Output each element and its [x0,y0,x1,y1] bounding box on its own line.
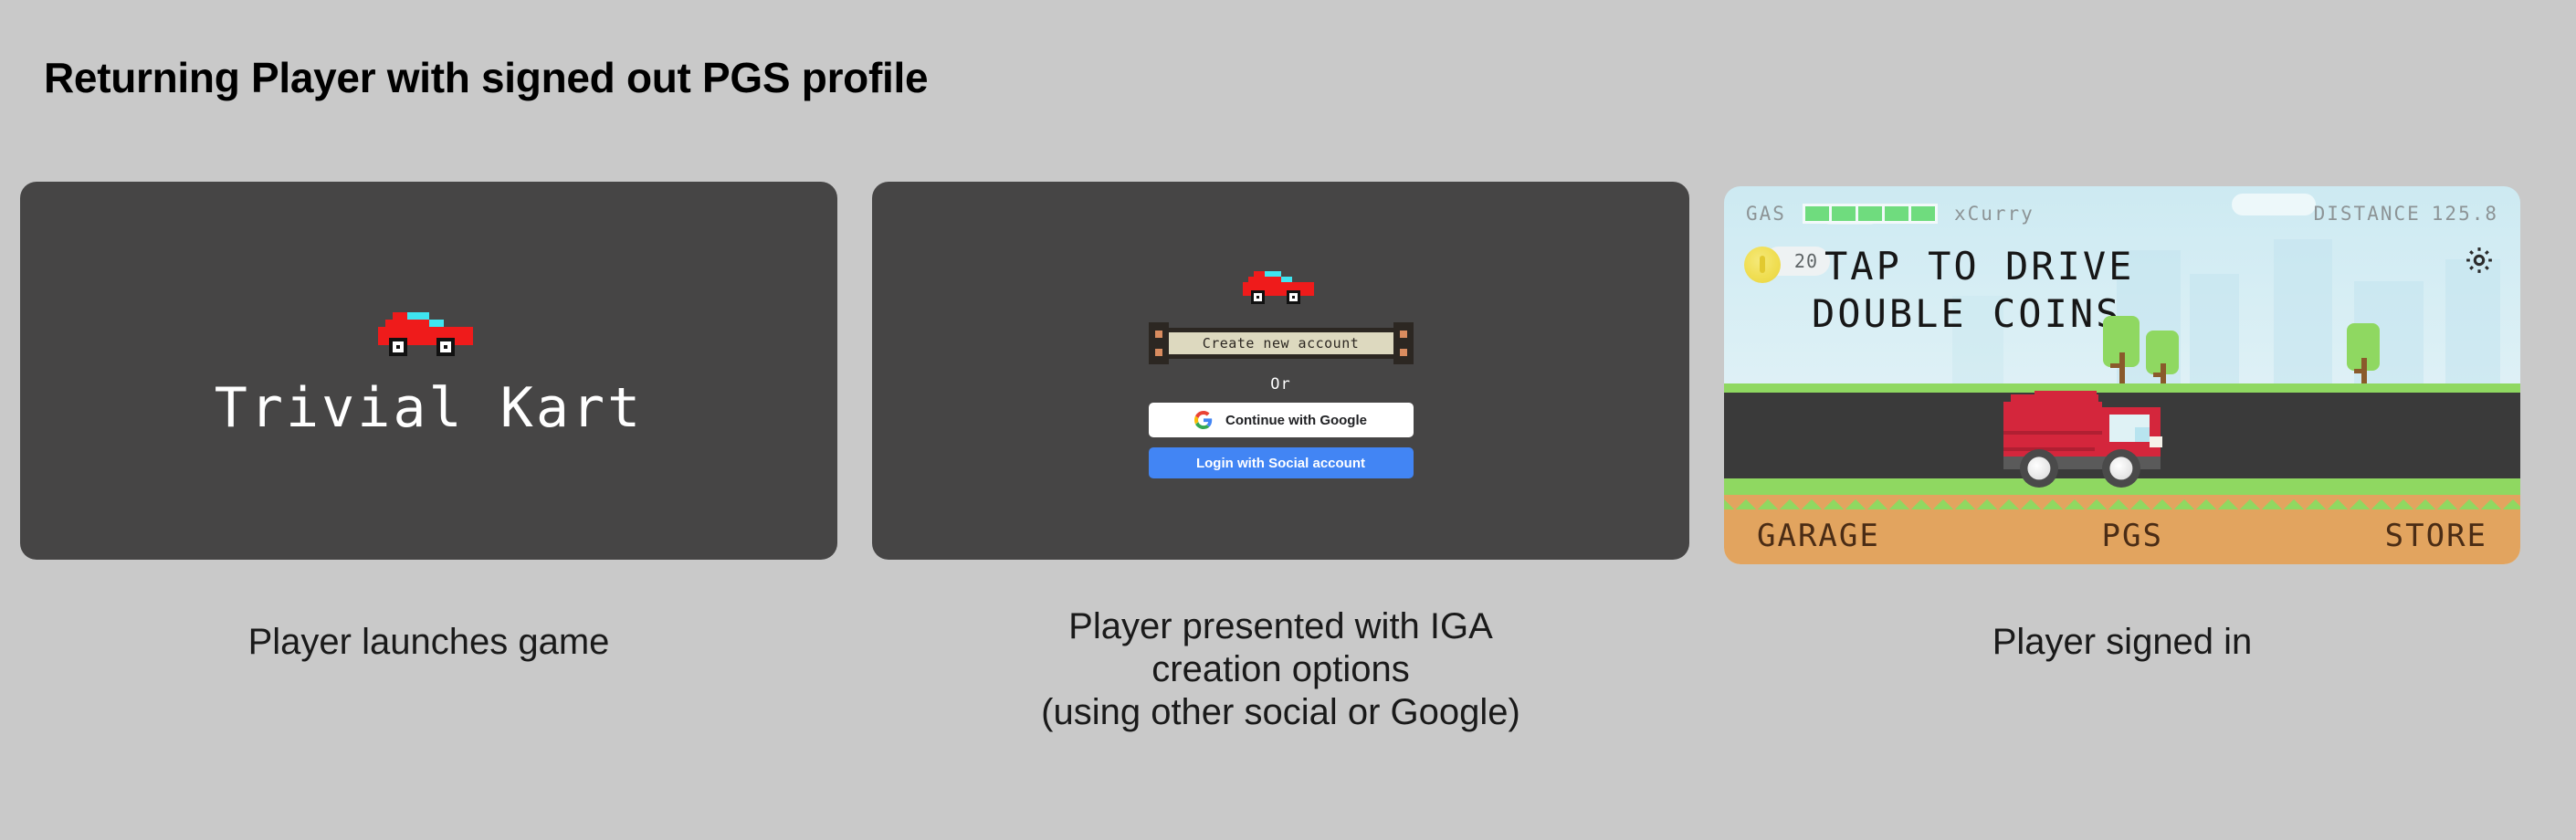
pixel-car-icon [371,301,488,363]
continue-with-google-label: Continue with Google [1225,413,1367,428]
panel-iga-dialog: Create new account Or Continue with Goog… [872,182,1689,560]
google-logo-icon [1194,411,1213,429]
create-new-account-label: Create new account [1203,335,1360,352]
gas-segment [1805,206,1832,221]
scroll-banner-cap-right [1393,322,1414,364]
promo-line-2: DOUBLE COINS [1812,290,2121,337]
game-viewport: GAS xCurry DISTANCE 125.8 20 [1724,186,2520,564]
gas-segment [1911,206,1935,221]
splash-content: Trivial Kart [20,182,837,560]
iga-dialog-content: Create new account Or Continue with Goog… [872,182,1689,560]
panel-game-splash: Trivial Kart [20,182,837,560]
login-with-social-account-label: Login with Social account [1196,456,1365,471]
panel-1-caption: Player launches game [20,621,837,664]
panel-3-caption: Player signed in [1724,621,2520,664]
distance-value: 125.8 [2432,203,2498,225]
building-silhouette [2274,239,2332,396]
gas-segment [1832,206,1858,221]
tree-decoration [2347,323,2380,389]
distance-label: DISTANCE [2314,203,2421,225]
bottom-nav-bar: GARAGE PGS STORE [1724,511,2520,561]
page-title: Returning Player with signed out PGS pro… [44,53,928,102]
gas-segment [1858,206,1885,221]
pixel-car-icon [1237,263,1325,310]
building-silhouette [2445,259,2500,396]
hud-top-row: GAS xCurry DISTANCE 125.8 [1724,203,2520,225]
or-divider-label: Or [1270,375,1290,394]
coin-icon [1744,247,1781,283]
nav-pgs[interactable]: PGS [2102,518,2163,554]
scroll-banner-cap-left [1149,322,1169,364]
gas-meter [1803,204,1938,224]
panel-in-game: GAS xCurry DISTANCE 125.8 20 [1724,186,2520,564]
screenshot-root: Returning Player with signed out PGS pro… [0,0,2576,840]
game-title: Trivial Kart [215,376,643,440]
nav-store[interactable]: STORE [2385,518,2487,554]
panel-2-caption: Player presented with IGA creation optio… [872,605,1689,733]
continue-with-google-button[interactable]: Continue with Google [1149,403,1414,437]
gear-icon[interactable] [2464,245,2495,276]
create-new-account-button[interactable]: Create new account [1149,322,1414,364]
promo-line-1: TAP TO DRIVE [1824,243,2134,289]
tree-decoration [2103,316,2140,387]
nav-garage[interactable]: GARAGE [1757,518,1880,554]
gas-label: GAS [1746,203,1786,225]
login-with-social-account-button[interactable]: Login with Social account [1149,447,1414,478]
truck-wheel [2102,449,2140,488]
gas-segment [1885,206,1911,221]
truck-wheel [2020,449,2058,488]
building-silhouette [2190,274,2239,396]
player-name-label: xCurry [1954,203,2035,225]
player-truck [1998,380,2171,478]
